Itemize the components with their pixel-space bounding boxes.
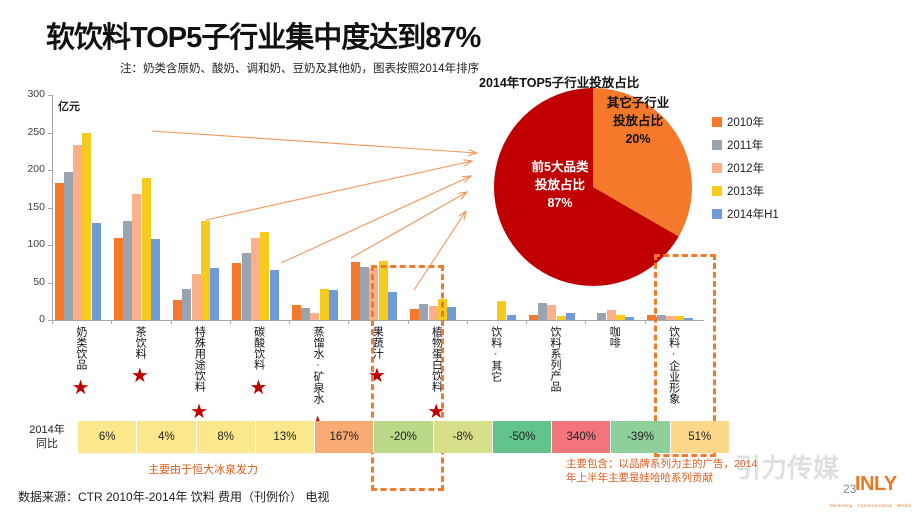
footnote-source: 数据来源：CTR 2010年-2014年 饮料 费用（刊例价） 电视	[18, 488, 329, 505]
yoy-row-label-line2: 同比	[20, 438, 74, 452]
yoy-cell: -20%	[374, 421, 433, 453]
yoy-table-row: 6%4%8%13%167%-20%-8%-50%340%-39%51%	[78, 421, 730, 453]
logo-tagline: Marketing · Communication · Media	[830, 503, 911, 508]
pie-label-other-line2: 投放占比	[578, 112, 698, 130]
legend-item: 2010年	[712, 114, 779, 130]
footnote-highlight-left: 主要由于恒大冰泉发力	[148, 461, 258, 477]
yoy-cell: -50%	[493, 421, 552, 453]
legend-item: 2014年H1	[712, 206, 779, 222]
legend-swatch	[712, 117, 722, 127]
yoy-cell: 6%	[78, 421, 137, 453]
yoy-cell: 167%	[315, 421, 374, 453]
legend-label: 2010年	[727, 114, 764, 130]
footnote-highlight-right: 主要包含：以品牌系列为主的广告，2014 年上半年主要是娃哈哈系列贡献	[566, 457, 757, 485]
pie-label-top5: 前5大品类 投放占比 87%	[500, 158, 620, 212]
legend-label: 2013年	[727, 183, 764, 199]
pie-label-top5-line1: 前5大品类	[500, 158, 620, 176]
legend-swatch	[712, 186, 722, 196]
legend-swatch	[712, 140, 722, 150]
yoy-cell: 340%	[552, 421, 611, 453]
yoy-row-label-line1: 2014年	[20, 424, 74, 438]
legend-swatch	[712, 163, 722, 173]
yoy-cell: -39%	[611, 421, 670, 453]
yoy-cell: 4%	[137, 421, 196, 453]
legend-label: 2012年	[727, 160, 764, 176]
pie-label-other-line1: 其它子行业	[578, 94, 698, 112]
legend-label: 2014年H1	[727, 206, 779, 222]
inly-logo: INLY	[855, 470, 917, 496]
legend-item: 2011年	[712, 137, 779, 153]
yoy-cell: 8%	[197, 421, 256, 453]
footnote-highlight-right-line1: 主要包含：以品牌系列为主的广告，2014	[566, 457, 757, 471]
yoy-cell: -8%	[434, 421, 493, 453]
footnote-highlight-right-line2: 年上半年主要是娃哈哈系列贡献	[566, 471, 757, 485]
pie-label-top5-line2: 投放占比	[500, 176, 620, 194]
pie-label-top5-value: 87%	[500, 194, 620, 212]
legend-item: 2013年	[712, 183, 779, 199]
legend-label: 2011年	[727, 137, 763, 153]
pie-label-other-value: 20%	[578, 130, 698, 148]
svg-text:INLY: INLY	[855, 473, 898, 495]
legend-swatch	[712, 209, 722, 219]
legend-item: 2012年	[712, 160, 779, 176]
yoy-row-label: 2014年 同比	[20, 424, 74, 452]
watermark-text: 引力传媒	[735, 448, 839, 485]
yoy-cell: 13%	[256, 421, 315, 453]
chart-legend: 2010年2011年2012年2013年2014年H1	[712, 114, 779, 229]
highlight-box-distilled-water	[371, 265, 444, 491]
pie-label-other: 其它子行业 投放占比 20%	[578, 94, 698, 148]
yoy-cell: 51%	[671, 421, 730, 453]
